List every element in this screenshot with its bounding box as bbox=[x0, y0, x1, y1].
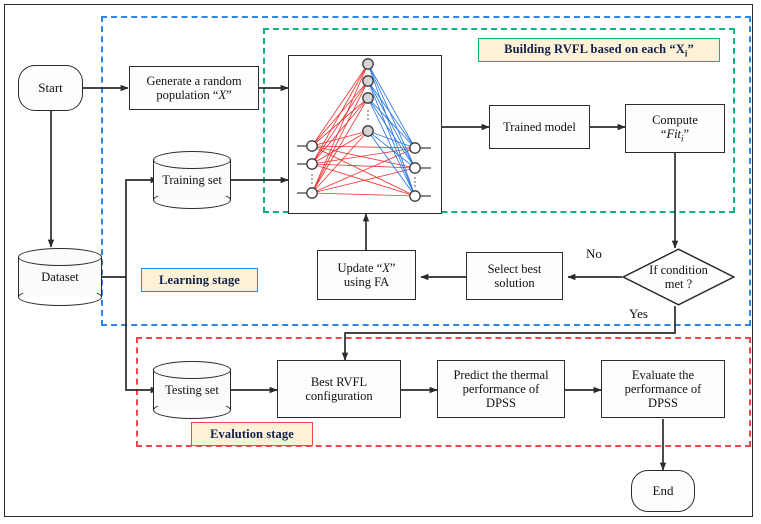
node-training-set[interactable]: Training set bbox=[153, 151, 231, 209]
node-end-label: End bbox=[650, 484, 677, 499]
node-predict-line1: Predict the thermal bbox=[453, 368, 548, 382]
node-generate-population-var: X bbox=[218, 88, 226, 102]
node-update-population[interactable]: Update “X” using FA bbox=[317, 250, 416, 300]
node-generate-population-line1: Generate a random bbox=[146, 74, 241, 88]
node-predict-line3: DPSS bbox=[486, 396, 516, 410]
node-dataset[interactable]: Dataset bbox=[18, 248, 102, 306]
chip-evaluation-stage: Evalution stage bbox=[191, 422, 313, 446]
node-predict-line2: performance of bbox=[463, 382, 540, 396]
node-compute-fit[interactable]: Compute “Fiti” bbox=[625, 104, 725, 153]
node-evaluate-line3: DPSS bbox=[648, 396, 678, 410]
node-select-best-solution-line1: Select best bbox=[488, 262, 542, 276]
node-evaluate-line1: Evaluate the bbox=[632, 368, 694, 382]
flowchart-canvas: Start End Generate a random population “… bbox=[0, 0, 761, 524]
node-predict-thermal-performance[interactable]: Predict the thermal performance of DPSS bbox=[437, 360, 565, 418]
node-best-rvfl-configuration[interactable]: Best RVFL configuration bbox=[277, 360, 401, 418]
chip-learning-stage: Learning stage bbox=[141, 268, 258, 292]
node-start[interactable]: Start bbox=[18, 65, 83, 111]
node-condition-line2: met ? bbox=[665, 277, 692, 291]
training-set-bottom-ellipse bbox=[153, 191, 231, 209]
edge-label-yes: Yes bbox=[629, 306, 648, 322]
node-testing-set-label: Testing set bbox=[153, 383, 231, 398]
chip-evaluation-label: Evalution stage bbox=[210, 427, 294, 442]
node-trained-model[interactable]: Trained model bbox=[489, 105, 590, 149]
node-update-population-line1-pre: Update “ bbox=[338, 261, 383, 275]
node-condition-decision[interactable]: If condition met ? bbox=[622, 248, 735, 306]
node-training-set-label: Training set bbox=[153, 173, 231, 188]
chip-building-suffix: ” bbox=[687, 42, 693, 56]
dataset-bottom-ellipse bbox=[18, 288, 102, 306]
chip-learning-label: Learning stage bbox=[159, 273, 240, 288]
node-testing-set[interactable]: Testing set bbox=[153, 361, 231, 419]
node-compute-fit-quote-close: ” bbox=[684, 127, 690, 141]
node-select-best-solution-line2: solution bbox=[494, 276, 534, 290]
node-condition-line1: If condition bbox=[649, 263, 708, 277]
chip-building-prefix: Building RVFL based on each “X bbox=[504, 42, 685, 56]
node-best-rvfl-line2: configuration bbox=[305, 389, 372, 403]
node-compute-fit-var: Fit bbox=[666, 127, 681, 141]
node-evaluate-line2: performance of bbox=[625, 382, 702, 396]
node-trained-model-label: Trained model bbox=[500, 120, 579, 134]
node-evaluate-performance[interactable]: Evaluate the performance of DPSS bbox=[601, 360, 725, 418]
node-dataset-label: Dataset bbox=[18, 270, 102, 285]
chip-building-stage: Building RVFL based on each “Xi” bbox=[478, 38, 720, 62]
testing-set-bottom-ellipse bbox=[153, 401, 231, 419]
node-generate-population-line2-post: ” bbox=[226, 88, 232, 102]
testing-set-top-ellipse bbox=[153, 361, 231, 379]
node-start-label: Start bbox=[35, 81, 66, 96]
training-set-top-ellipse bbox=[153, 151, 231, 169]
node-update-population-line2: using FA bbox=[344, 275, 389, 289]
node-generate-population-line2-pre: population “ bbox=[156, 88, 218, 102]
node-end[interactable]: End bbox=[631, 470, 695, 512]
node-update-population-line1-post: ” bbox=[390, 261, 396, 275]
node-compute-fit-line1: Compute bbox=[652, 113, 698, 127]
node-best-rvfl-line1: Best RVFL bbox=[311, 375, 367, 389]
dataset-top-ellipse bbox=[18, 248, 102, 266]
edge-label-no: No bbox=[586, 246, 602, 262]
node-generate-population[interactable]: Generate a random population “X” bbox=[129, 66, 259, 110]
node-select-best-solution[interactable]: Select best solution bbox=[466, 252, 563, 300]
node-update-population-var: X bbox=[382, 261, 390, 275]
